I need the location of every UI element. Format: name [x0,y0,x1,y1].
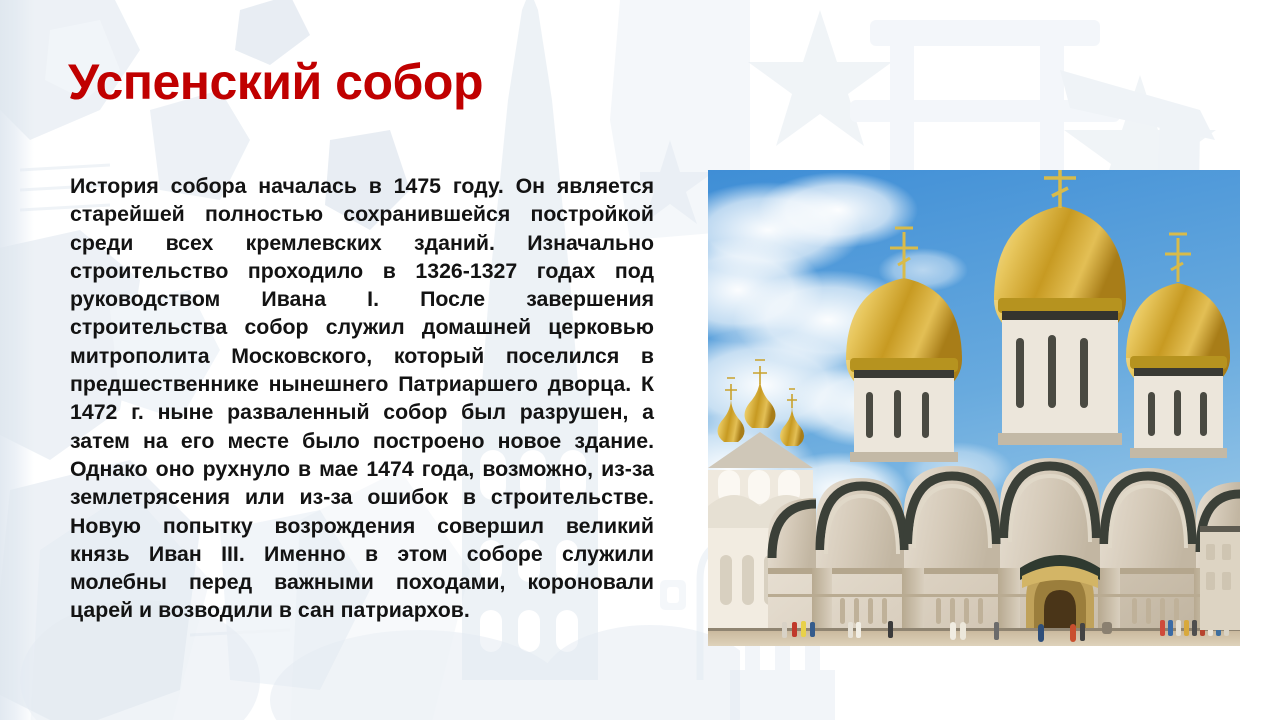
body-paragraph: История собора началась в 1475 году. Он … [70,172,654,625]
cathedral-photo [708,170,1240,646]
presentation-slide: Успенский собор История собора началась … [0,0,1279,720]
body-paragraph-text: История собора началась в 1475 году. Он … [70,172,654,625]
page-title: Успенский собор [68,56,483,109]
left-accent-strip [0,0,34,720]
